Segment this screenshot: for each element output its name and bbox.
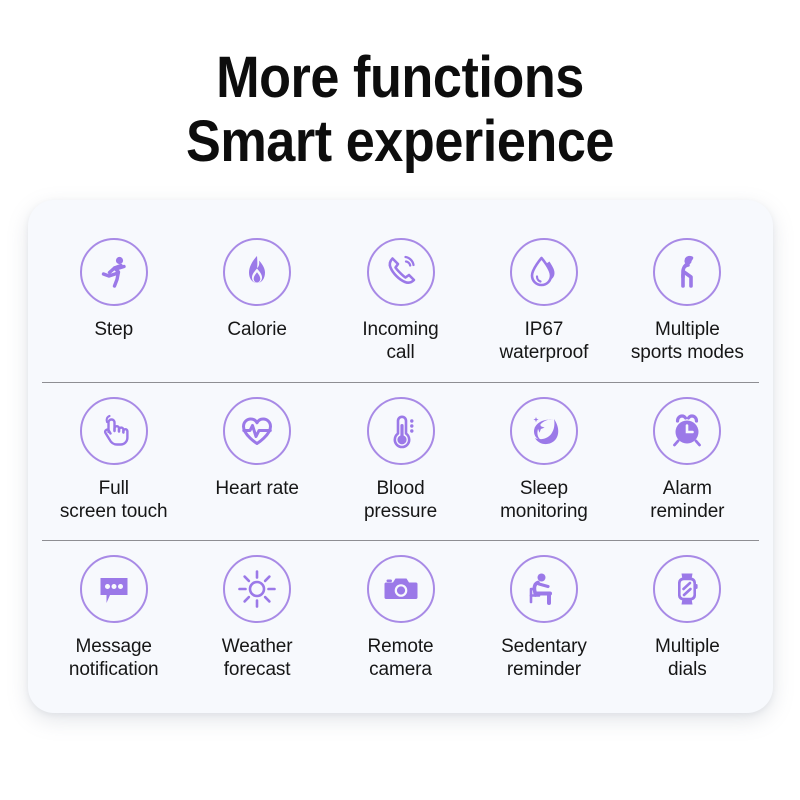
running-person-icon bbox=[80, 238, 148, 306]
feature-label: Step bbox=[94, 318, 133, 341]
features-card: Step Calorie bbox=[28, 200, 773, 713]
feature-cell-remote-camera[interactable]: Remote camera bbox=[329, 541, 472, 681]
page-title: More functions Smart experience bbox=[40, 46, 760, 174]
page-title-line-2: Smart experience bbox=[40, 110, 760, 174]
smartwatch-icon bbox=[653, 555, 721, 623]
heart-pulse-icon bbox=[223, 397, 291, 465]
feature-label: IP67 waterproof bbox=[500, 318, 589, 364]
feature-cell-alarm-reminder[interactable]: Alarm reminder bbox=[616, 383, 759, 523]
sitting-person-icon bbox=[510, 555, 578, 623]
feature-cell-blood-pressure[interactable]: Blood pressure bbox=[329, 383, 472, 523]
feature-cell-full-screen-touch[interactable]: Full screen touch bbox=[42, 383, 185, 523]
feature-cell-step[interactable]: Step bbox=[42, 224, 185, 341]
page-title-line-1: More functions bbox=[40, 46, 760, 110]
stretching-person-icon bbox=[653, 238, 721, 306]
features-row-1: Step Calorie bbox=[42, 224, 759, 382]
feature-cell-heart-rate[interactable]: Heart rate bbox=[185, 383, 328, 500]
touch-hand-icon bbox=[80, 397, 148, 465]
feature-cell-multiple-dials[interactable]: Multiple dials bbox=[616, 541, 759, 681]
features-row-2: Full screen touch Heart rate bbox=[42, 382, 759, 541]
feature-label: Remote camera bbox=[368, 635, 434, 681]
feature-cell-calorie[interactable]: Calorie bbox=[185, 224, 328, 341]
feature-label: Multiple sports modes bbox=[631, 318, 744, 364]
feature-cell-sports-modes[interactable]: Multiple sports modes bbox=[616, 224, 759, 364]
feature-label: Sleep monitoring bbox=[500, 477, 588, 523]
feature-cell-sleep-monitoring[interactable]: Sleep monitoring bbox=[472, 383, 615, 523]
feature-label: Sedentary reminder bbox=[501, 635, 587, 681]
feature-label: Alarm reminder bbox=[650, 477, 724, 523]
moon-stars-icon bbox=[510, 397, 578, 465]
alarm-clock-icon bbox=[653, 397, 721, 465]
promo-page: More functions Smart experience bbox=[0, 0, 800, 800]
feature-cell-waterproof[interactable]: IP67 waterproof bbox=[472, 224, 615, 364]
feature-label: Weather forecast bbox=[222, 635, 293, 681]
feature-cell-message-notification[interactable]: Message notification bbox=[42, 541, 185, 681]
thermometer-icon bbox=[367, 397, 435, 465]
flame-icon bbox=[223, 238, 291, 306]
camera-icon bbox=[367, 555, 435, 623]
feature-cell-sedentary-reminder[interactable]: Sedentary reminder bbox=[472, 541, 615, 681]
incoming-call-icon bbox=[367, 238, 435, 306]
feature-label: Full screen touch bbox=[60, 477, 168, 523]
feature-cell-weather-forecast[interactable]: Weather forecast bbox=[185, 541, 328, 681]
feature-label: Message notification bbox=[69, 635, 159, 681]
feature-label: Calorie bbox=[227, 318, 287, 341]
feature-label: Blood pressure bbox=[364, 477, 437, 523]
feature-label: Heart rate bbox=[215, 477, 298, 500]
sun-icon bbox=[223, 555, 291, 623]
feature-cell-incoming-call[interactable]: Incoming call bbox=[329, 224, 472, 364]
water-drop-icon bbox=[510, 238, 578, 306]
message-bubble-icon bbox=[80, 555, 148, 623]
features-grid: Step Calorie bbox=[28, 200, 773, 713]
features-row-3: Message notification bbox=[42, 540, 759, 699]
feature-label: Multiple dials bbox=[655, 635, 720, 681]
feature-label: Incoming call bbox=[362, 318, 438, 364]
